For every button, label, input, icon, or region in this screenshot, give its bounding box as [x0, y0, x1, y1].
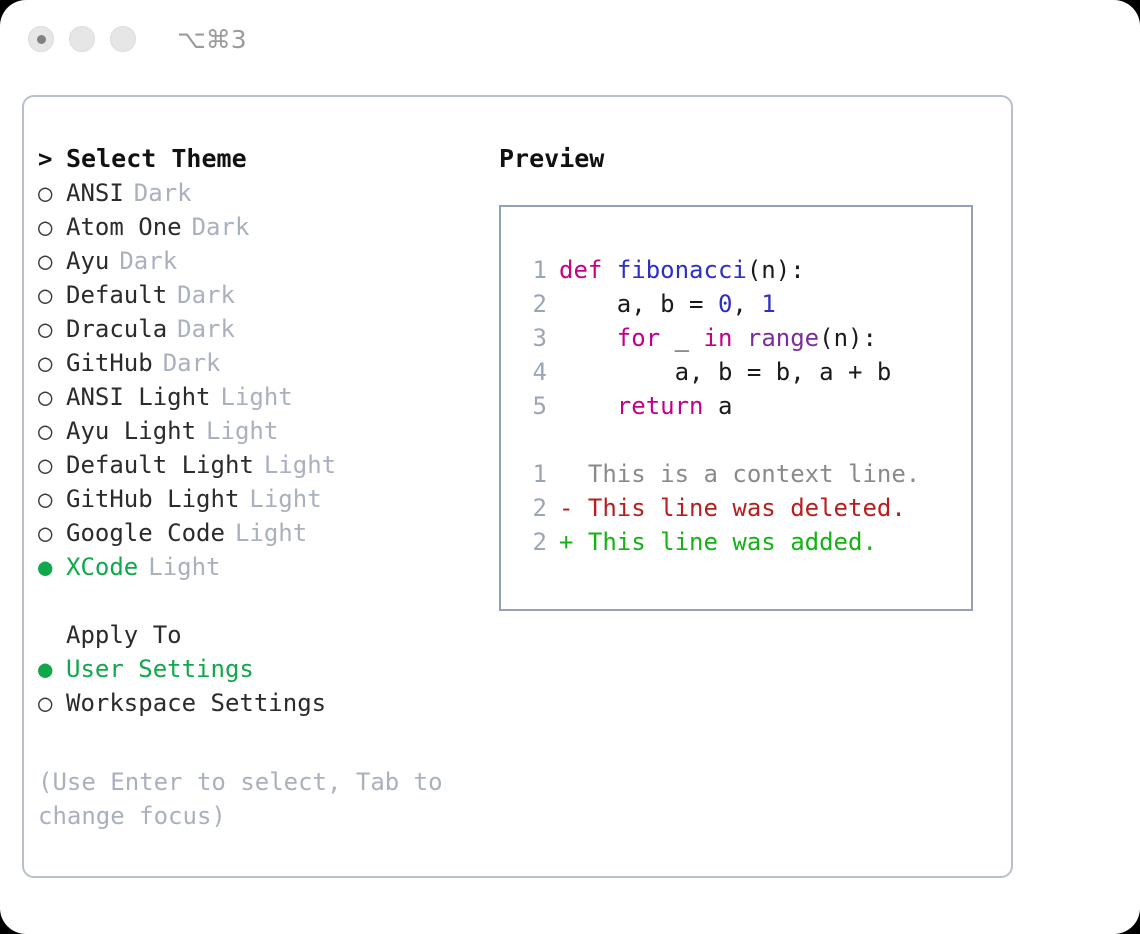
- caret-icon: >: [38, 142, 66, 176]
- theme-kind-badge: Dark: [177, 312, 235, 346]
- code-token: _: [660, 324, 703, 352]
- theme-name: Default Light: [66, 448, 254, 482]
- theme-name: Default: [66, 278, 167, 312]
- theme-list-item[interactable]: ●XCodeLight: [38, 550, 478, 584]
- line-number: 1: [519, 457, 547, 491]
- radio-unselected-icon[interactable]: ○: [38, 278, 66, 312]
- code-token: def: [559, 256, 602, 284]
- code-token: ,: [732, 290, 761, 318]
- code-line: 5 return a: [519, 389, 920, 423]
- theme-kind-badge: Dark: [134, 176, 192, 210]
- line-number: 2: [519, 525, 547, 559]
- radio-selected-icon[interactable]: ●: [38, 550, 66, 584]
- radio-unselected-icon[interactable]: ○: [38, 380, 66, 414]
- theme-list-item[interactable]: ○GitHub LightLight: [38, 482, 478, 516]
- line-number: 2: [519, 287, 547, 321]
- code-gap: [519, 423, 920, 457]
- code-line: 3 for _ in range(n):: [519, 321, 920, 355]
- apply-to-list: ●User Settings○Workspace Settings: [38, 652, 478, 720]
- theme-list-item[interactable]: ○Default LightLight: [38, 448, 478, 482]
- line-number: 2: [519, 491, 547, 525]
- keyboard-shortcut-label: ⌥⌘3: [177, 25, 247, 54]
- code-preview: 1def fibonacci(n):2 a, b = 0, 13 for _ i…: [519, 253, 920, 559]
- theme-name: Ayu: [66, 244, 109, 278]
- theme-kind-badge: Light: [264, 448, 336, 482]
- code-token: fibonacci: [617, 256, 747, 284]
- code-line: 2 a, b = 0, 1: [519, 287, 920, 321]
- page-title: Select Theme: [66, 142, 247, 176]
- window-dot-close[interactable]: [28, 26, 54, 52]
- theme-list-item[interactable]: ○ANSI LightLight: [38, 380, 478, 414]
- code-token: (n):: [819, 324, 877, 352]
- theme-list: ○ANSIDark○Atom OneDark○AyuDark○DefaultDa…: [38, 176, 478, 584]
- radio-unselected-icon[interactable]: ○: [38, 414, 66, 448]
- theme-kind-badge: Dark: [163, 346, 221, 380]
- theme-name: GitHub Light: [66, 482, 239, 516]
- radio-unselected-icon[interactable]: ○: [38, 448, 66, 482]
- code-token: [732, 324, 746, 352]
- theme-list-item[interactable]: ○DraculaDark: [38, 312, 478, 346]
- diff-text: This line was deleted.: [588, 494, 906, 522]
- theme-kind-badge: Light: [206, 414, 278, 448]
- theme-list-item[interactable]: ○ANSIDark: [38, 176, 478, 210]
- code-line: 1def fibonacci(n):: [519, 253, 920, 287]
- apply-to-label: Apply To: [66, 618, 182, 652]
- theme-kind-badge: Light: [148, 550, 220, 584]
- select-theme-heading: > Select Theme: [38, 142, 478, 176]
- code-token: (n):: [747, 256, 805, 284]
- radio-selected-icon[interactable]: ●: [38, 652, 66, 686]
- window-dot-inner: [37, 35, 46, 44]
- theme-kind-badge: Dark: [119, 244, 177, 278]
- theme-name: XCode: [66, 550, 138, 584]
- apply-to-label-text: User Settings: [66, 652, 254, 686]
- code-token: a, b = b, a + b: [559, 358, 891, 386]
- preview-box: 1def fibonacci(n):2 a, b = 0, 13 for _ i…: [499, 205, 973, 611]
- diff-marker: -: [559, 494, 588, 522]
- keyboard-hint: (Use Enter to select, Tab to change focu…: [38, 765, 458, 833]
- theme-kind-badge: Dark: [177, 278, 235, 312]
- apply-to-label-text: Workspace Settings: [66, 686, 326, 720]
- theme-name: Google Code: [66, 516, 225, 550]
- code-token: a, b =: [559, 290, 718, 318]
- theme-name: Dracula: [66, 312, 167, 346]
- radio-unselected-icon[interactable]: ○: [38, 516, 66, 550]
- radio-unselected-icon[interactable]: ○: [38, 482, 66, 516]
- code-token: range: [747, 324, 819, 352]
- apply-to-option[interactable]: ○Workspace Settings: [38, 686, 478, 720]
- radio-unselected-icon[interactable]: ○: [38, 176, 66, 210]
- theme-name: ANSI: [66, 176, 124, 210]
- diff-line: 2- This line was deleted.: [519, 491, 920, 525]
- theme-name: GitHub: [66, 346, 153, 380]
- code-token: a: [704, 392, 733, 420]
- title-bar: ⌥⌘3: [0, 0, 1140, 78]
- theme-selector-column: > Select Theme ○ANSIDark○Atom OneDark○Ay…: [38, 142, 478, 720]
- radio-unselected-icon[interactable]: ○: [38, 686, 66, 720]
- theme-list-item[interactable]: ○Atom OneDark: [38, 210, 478, 244]
- radio-unselected-icon[interactable]: ○: [38, 244, 66, 278]
- theme-kind-badge: Light: [221, 380, 293, 414]
- code-token: for: [617, 324, 660, 352]
- code-token: in: [704, 324, 733, 352]
- theme-name: ANSI Light: [66, 380, 211, 414]
- theme-list-item[interactable]: ○GitHubDark: [38, 346, 478, 380]
- theme-name: Atom One: [66, 210, 182, 244]
- theme-list-item[interactable]: ○Ayu LightLight: [38, 414, 478, 448]
- diff-marker: [559, 460, 588, 488]
- theme-kind-badge: Light: [249, 482, 321, 516]
- line-number: 5: [519, 389, 547, 423]
- line-number: 4: [519, 355, 547, 389]
- content-panel: > Select Theme ○ANSIDark○Atom OneDark○Ay…: [22, 95, 1013, 878]
- theme-kind-badge: Light: [235, 516, 307, 550]
- theme-list-item[interactable]: ○AyuDark: [38, 244, 478, 278]
- code-token: 1: [761, 290, 775, 318]
- code-token: [602, 256, 616, 284]
- diff-line: 1 This is a context line.: [519, 457, 920, 491]
- diff-line: 2+ This line was added.: [519, 525, 920, 559]
- code-line: 4 a, b = b, a + b: [519, 355, 920, 389]
- window-dot-maximize[interactable]: [110, 26, 136, 52]
- diff-text: This line was added.: [588, 528, 877, 556]
- diff-marker: +: [559, 528, 588, 556]
- theme-list-item[interactable]: ○DefaultDark: [38, 278, 478, 312]
- line-number: 3: [519, 321, 547, 355]
- preview-column: Preview 1def fibonacci(n):2 a, b = 0, 13…: [499, 142, 999, 611]
- radio-unselected-icon[interactable]: ○: [38, 346, 66, 380]
- spacer-icon: ○: [38, 618, 66, 652]
- diff-text: This is a context line.: [588, 460, 920, 488]
- list-spacer: [38, 584, 478, 618]
- theme-name: Ayu Light: [66, 414, 196, 448]
- code-token: [559, 324, 617, 352]
- window-dot-minimize[interactable]: [69, 26, 95, 52]
- app-window: ⌥⌘3 > Select Theme ○ANSIDark○Atom OneDar…: [0, 0, 1140, 934]
- radio-unselected-icon[interactable]: ○: [38, 210, 66, 244]
- code-token: 0: [718, 290, 732, 318]
- theme-list-item[interactable]: ○Google CodeLight: [38, 516, 478, 550]
- radio-unselected-icon[interactable]: ○: [38, 312, 66, 346]
- preview-heading: Preview: [499, 142, 999, 176]
- theme-kind-badge: Dark: [192, 210, 250, 244]
- apply-to-option[interactable]: ●User Settings: [38, 652, 478, 686]
- line-number: 1: [519, 253, 547, 287]
- code-token: return: [617, 392, 704, 420]
- apply-to-heading: ○ Apply To: [38, 618, 478, 652]
- code-token: [559, 392, 617, 420]
